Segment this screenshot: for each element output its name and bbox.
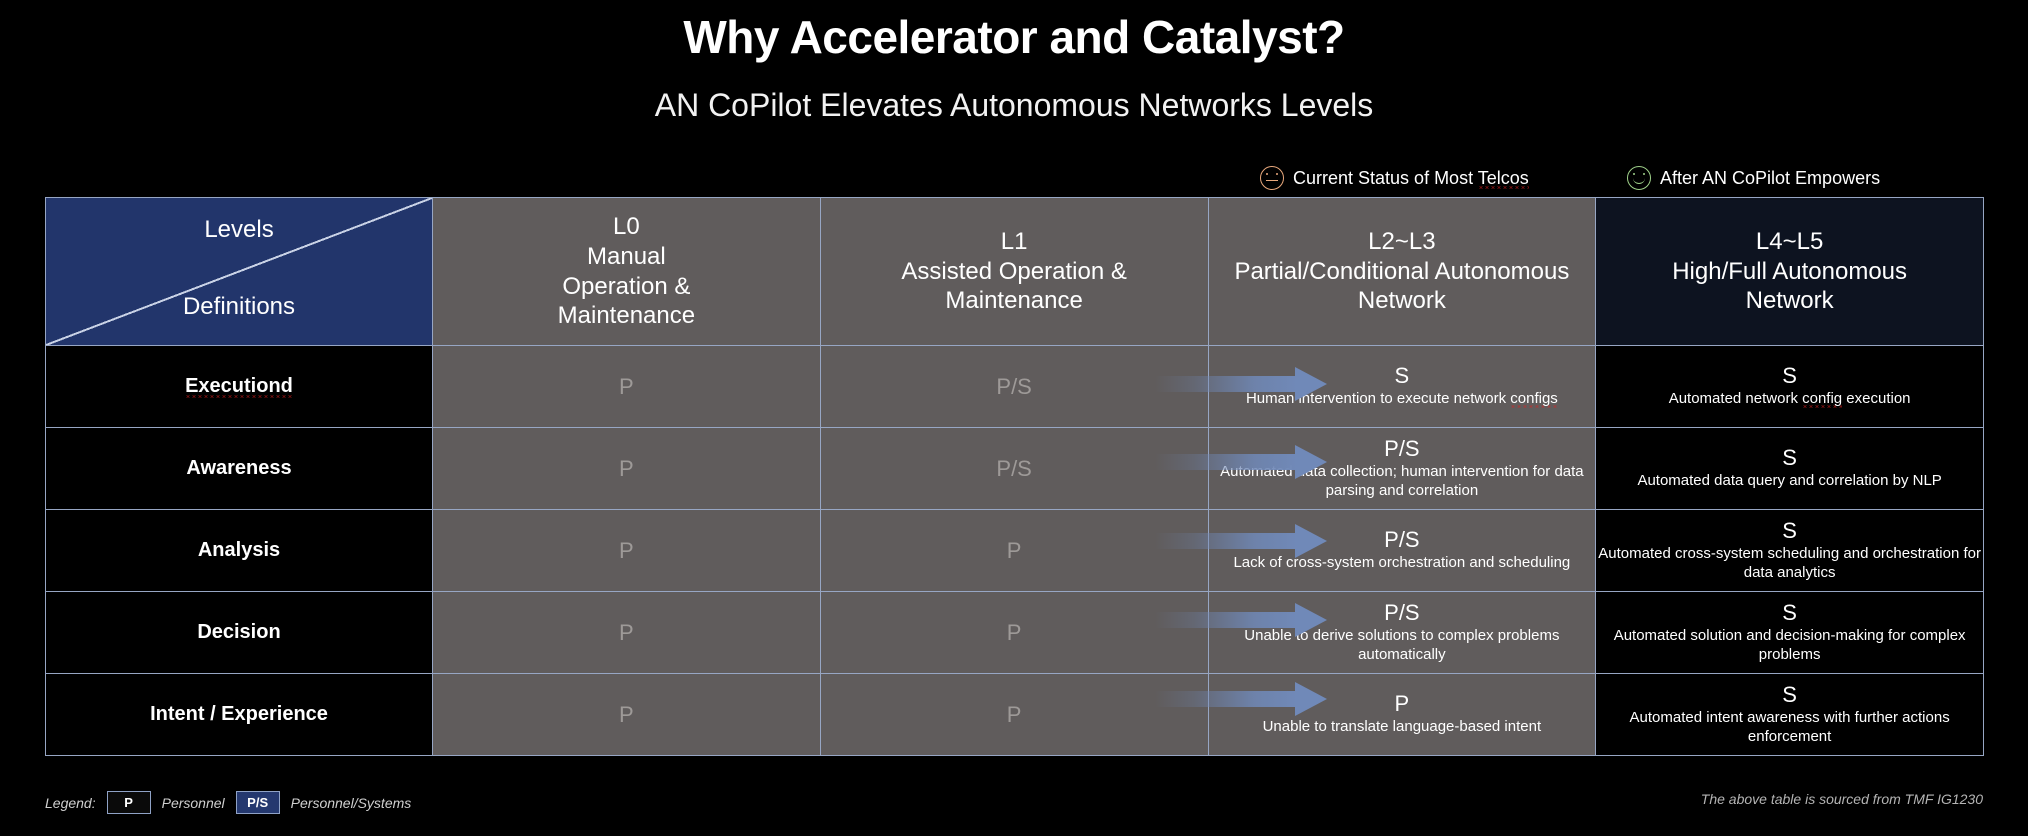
corner-definitions-label: Definitions (46, 293, 432, 321)
header-col-l2-l3: L2~L3 Partial/Conditional Autonomous Net… (1208, 198, 1596, 346)
cell-l1-analysis: P (820, 510, 1208, 592)
cell-l1-decision: P (820, 592, 1208, 674)
header-corner-cell: Levels Definitions (46, 198, 433, 346)
row-label-awareness: Awareness (46, 428, 433, 510)
row-label-decision: Decision (46, 592, 433, 674)
table-header-row: Levels Definitions L0 Manual Operation &… (46, 198, 1984, 346)
legend-current-status: Current Status of Most Telcos (1260, 165, 1529, 191)
cell-l4-l5-intent-experience: S Automated intent awareness with furthe… (1596, 674, 1984, 756)
legend-prefix: Legend: (45, 795, 96, 811)
legend-chip-p: P (107, 791, 151, 814)
cell-l0-awareness: P (433, 428, 821, 510)
cell-l4-l5-analysis: S Automated cross-system scheduling and … (1596, 510, 1984, 592)
cell-desc: Automated cross-system scheduling and or… (1596, 545, 1983, 583)
cell-mark: P (1209, 692, 1596, 716)
neutral-face-icon (1260, 166, 1284, 190)
cell-l2-l3-decision: P/S Unable to derive solutions to comple… (1208, 592, 1596, 674)
legend-after-copilot: After AN CoPilot Empowers (1627, 165, 1880, 191)
legend-current-status-label: Current Status of Most Telcos (1293, 168, 1529, 189)
row-label-executiond: Executiond (46, 346, 433, 428)
source-note: The above table is sourced from TMF IG12… (1701, 791, 1983, 807)
header-col-l2-l3-line2: Network (1209, 286, 1596, 316)
header-col-l0-code: L0 (433, 212, 820, 242)
row-label-intent-experience: Intent / Experience (46, 674, 433, 756)
header-col-l1: L1 Assisted Operation & Maintenance (820, 198, 1208, 346)
table-row: Analysis P P P/S Lack of cross-system or… (46, 510, 1984, 592)
legend-after-copilot-label: After AN CoPilot Empowers (1660, 168, 1880, 189)
cell-l0-analysis: P (433, 510, 821, 592)
cell-l2-l3-intent-experience: P Unable to translate language-based int… (1208, 674, 1596, 756)
cell-mark: S (1596, 683, 1983, 707)
header-col-l4-l5-line1: High/Full Autonomous (1596, 257, 1983, 287)
header-col-l4-l5-line2: Network (1596, 286, 1983, 316)
page-title: Why Accelerator and Catalyst? (0, 10, 2028, 64)
cell-l1-awareness: P/S (820, 428, 1208, 510)
cell-desc: Unable to derive solutions to complex pr… (1209, 627, 1596, 665)
cell-mark: P/S (1209, 528, 1596, 552)
cell-mark: P/S (1209, 601, 1596, 625)
cell-desc: Automated network config execution (1596, 390, 1983, 409)
cell-l2-l3-awareness: P/S Automated data collection; human int… (1208, 428, 1596, 510)
smiling-face-icon (1627, 166, 1651, 190)
header-col-l4-l5-code: L4~L5 (1596, 227, 1983, 257)
misspelled-word: Executiond (185, 375, 293, 398)
autonomous-levels-matrix: Levels Definitions L0 Manual Operation &… (45, 197, 1984, 756)
header-col-l0-line1: Manual (433, 242, 820, 272)
legend-label-personnel-systems: Personnel/Systems (291, 795, 412, 811)
cell-mark: S (1596, 446, 1983, 470)
cell-l2-l3-analysis: P/S Lack of cross-system orchestration a… (1208, 510, 1596, 592)
header-col-l2-l3-line1: Partial/Conditional Autonomous (1209, 257, 1596, 287)
legend-chip-ps: P/S (236, 791, 280, 814)
cell-l0-executiond: P (433, 346, 821, 428)
cell-desc: Automated data query and correlation by … (1596, 472, 1983, 491)
header-col-l0-line2: Operation & (433, 272, 820, 302)
header-col-l1-line2: Maintenance (821, 286, 1208, 316)
header-col-l1-code: L1 (821, 227, 1208, 257)
bottom-legend: Legend: P Personnel P/S Personnel/System… (45, 791, 411, 814)
table-row: Intent / Experience P P P Unable to tran… (46, 674, 1984, 756)
header-col-l2-l3-code: L2~L3 (1209, 227, 1596, 257)
cell-desc: Automated intent awareness with further … (1596, 709, 1983, 747)
cell-mark: S (1596, 364, 1983, 388)
cell-mark: S (1596, 601, 1983, 625)
cell-l4-l5-decision: S Automated solution and decision-making… (1596, 592, 1984, 674)
cell-desc: Lack of cross-system orchestration and s… (1209, 554, 1596, 573)
legend-label-personnel: Personnel (162, 795, 225, 811)
table-row: Executiond P P/S S Human intervention to… (46, 346, 1984, 428)
cell-desc: Automated solution and decision-making f… (1596, 627, 1983, 665)
header-col-l0: L0 Manual Operation & Maintenance (433, 198, 821, 346)
cell-mark: S (1596, 519, 1983, 543)
cell-l1-intent-experience: P (820, 674, 1208, 756)
cell-mark: S (1209, 364, 1596, 388)
cell-l1-executiond: P/S (820, 346, 1208, 428)
table-row: Awareness P P/S P/S Automated data colle… (46, 428, 1984, 510)
cell-l2-l3-executiond: S Human intervention to execute network … (1208, 346, 1596, 428)
cell-desc: Unable to translate language-based inten… (1209, 718, 1596, 737)
header-col-l0-line3: Maintenance (433, 301, 820, 331)
cell-l4-l5-executiond: S Automated network config execution (1596, 346, 1984, 428)
cell-l0-decision: P (433, 592, 821, 674)
corner-levels-label: Levels (46, 216, 432, 244)
cell-desc: Automated data collection; human interve… (1209, 463, 1596, 501)
row-label-analysis: Analysis (46, 510, 433, 592)
page-subtitle: AN CoPilot Elevates Autonomous Networks … (0, 87, 2028, 124)
table-row: Decision P P P/S Unable to derive soluti… (46, 592, 1984, 674)
cell-desc: Human intervention to execute network co… (1209, 390, 1596, 409)
header-col-l1-line1: Assisted Operation & (821, 257, 1208, 287)
cell-mark: P/S (1209, 437, 1596, 461)
misspelled-word: Telcos (1478, 168, 1529, 189)
cell-l4-l5-awareness: S Automated data query and correlation b… (1596, 428, 1984, 510)
cell-l0-intent-experience: P (433, 674, 821, 756)
header-col-l4-l5: L4~L5 High/Full Autonomous Network (1596, 198, 1984, 346)
